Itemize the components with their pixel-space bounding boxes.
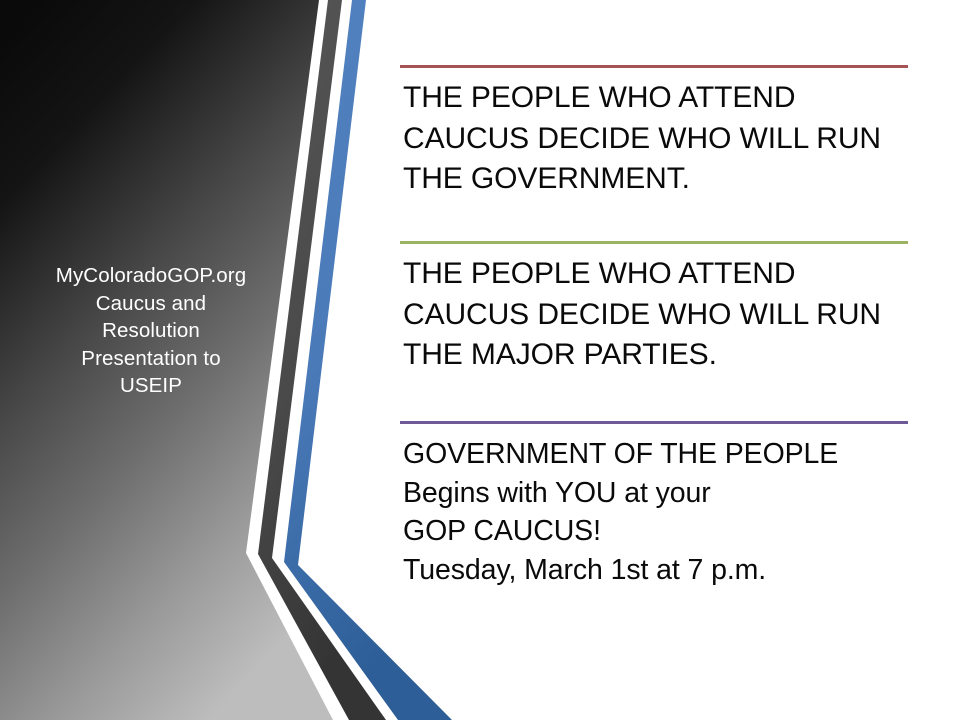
block-two-line-2: CAUCUS DECIDE WHO WILL RUN <box>403 295 908 336</box>
block-two-line-1: THE PEOPLE WHO ATTEND <box>403 254 908 295</box>
block-one-line-1: THE PEOPLE WHO ATTEND <box>403 78 908 119</box>
content-block-three-text: GOVERNMENT OF THE PEOPLE Begins with YOU… <box>403 435 908 589</box>
block-two-line-3: THE MAJOR PARTIES. <box>403 335 908 376</box>
red-divider-rule <box>400 65 908 68</box>
slide-title: MyColoradoGOP.org Caucus and Resolution … <box>38 262 264 400</box>
block-one-line-2: CAUCUS DECIDE WHO WILL RUN <box>403 119 908 160</box>
title-line-4: Presentation to <box>38 345 264 373</box>
purple-divider-rule <box>400 421 908 424</box>
content-column: THE PEOPLE WHO ATTEND CAUCUS DECIDE WHO … <box>400 0 920 720</box>
presentation-slide: MyColoradoGOP.org Caucus and Resolution … <box>0 0 960 720</box>
title-line-2: Caucus and <box>38 290 264 318</box>
content-block-one-text: THE PEOPLE WHO ATTEND CAUCUS DECIDE WHO … <box>403 78 908 200</box>
green-divider-rule <box>400 241 908 244</box>
title-line-3: Resolution <box>38 317 264 345</box>
block-three-line-4: Tuesday, March 1st at 7 p.m. <box>403 551 908 590</box>
title-line-1: MyColoradoGOP.org <box>38 262 264 290</box>
content-block-two-text: THE PEOPLE WHO ATTEND CAUCUS DECIDE WHO … <box>403 254 908 376</box>
block-three-line-3: GOP CAUCUS! <box>403 512 908 551</box>
title-line-5: USEIP <box>38 372 264 400</box>
block-one-line-3: THE GOVERNMENT. <box>403 159 908 200</box>
block-three-line-2: Begins with YOU at your <box>403 474 908 513</box>
block-three-line-1: GOVERNMENT OF THE PEOPLE <box>403 435 908 474</box>
